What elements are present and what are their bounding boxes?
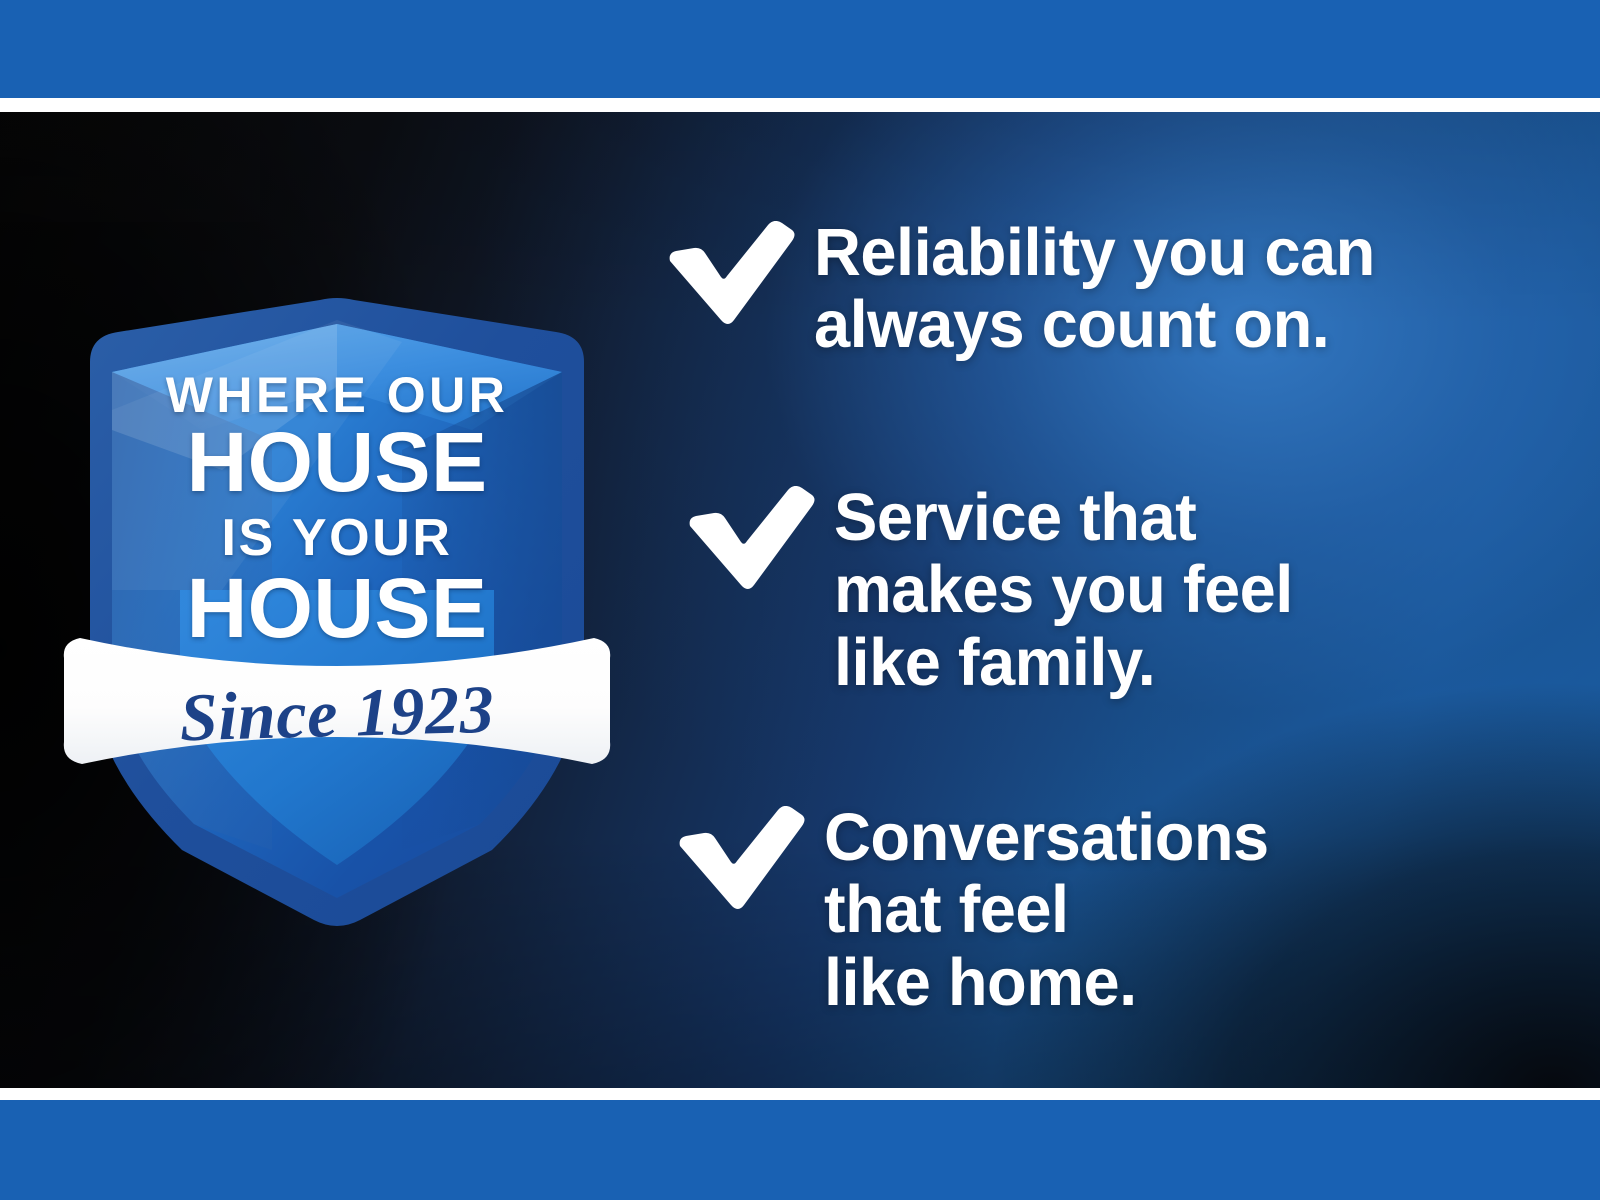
top-brand-bar — [0, 0, 1600, 98]
check-icon — [674, 806, 806, 910]
benefits-checklist: Reliability you can always count on. Ser… — [664, 112, 1544, 1088]
bottom-brand-bar — [0, 1100, 1600, 1200]
shield-body — [90, 298, 584, 926]
checklist-item-text: Conversations that feel like home. — [824, 802, 1269, 1019]
checklist-line: Conversations — [824, 802, 1269, 874]
checklist-item: Service that makes you feel like family. — [684, 482, 1307, 699]
checklist-line: Reliability you can — [814, 217, 1375, 289]
checklist-line: Service that — [834, 482, 1293, 554]
promo-graphic: WHERE OUR HOUSE IS YOUR HOUSE Since 1923… — [0, 0, 1600, 1200]
shield-badge: WHERE OUR HOUSE IS YOUR HOUSE Since 1923 — [72, 290, 602, 930]
checklist-line: that feel — [824, 874, 1269, 946]
checklist-line: like home. — [824, 947, 1269, 1019]
checklist-item: Conversations that feel like home. — [674, 802, 1282, 1019]
checklist-item-text: Service that makes you feel like family. — [834, 482, 1293, 699]
check-icon — [684, 486, 816, 590]
checklist-item-text: Reliability you can always count on. — [814, 217, 1375, 362]
checklist-item: Reliability you can always count on. — [664, 217, 1392, 362]
checklist-line: like family. — [834, 627, 1293, 699]
checklist-line: always count on. — [814, 289, 1375, 361]
checklist-line: makes you feel — [834, 554, 1293, 626]
check-icon — [664, 221, 796, 325]
